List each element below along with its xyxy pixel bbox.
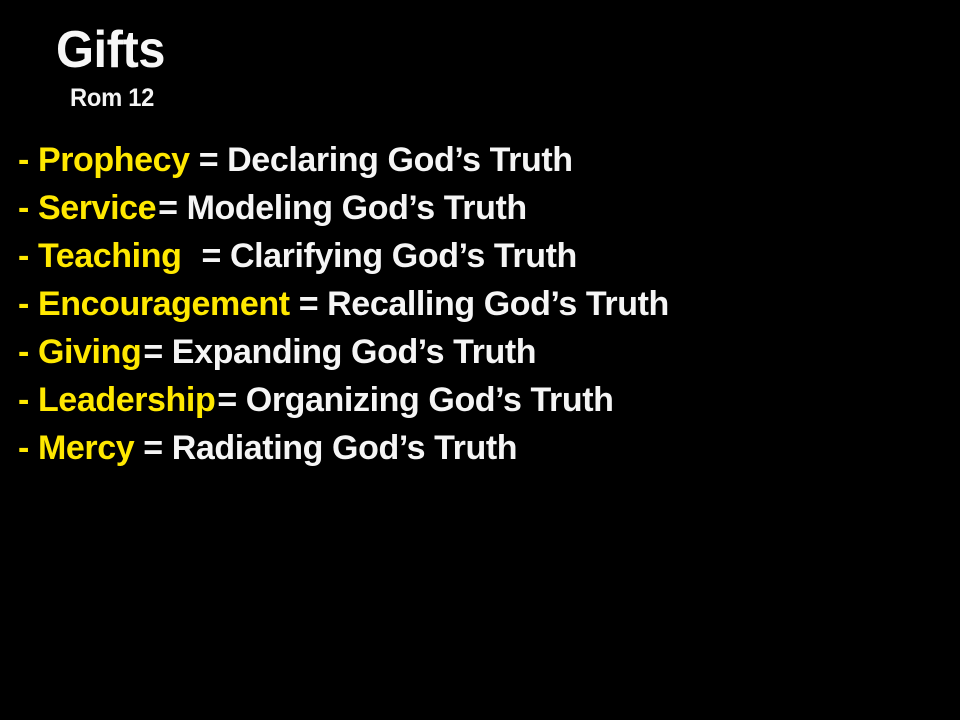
gift-description: Radiating God’s Truth bbox=[172, 429, 517, 467]
gift-list: -Prophecy=Declaring God’s Truth-Service=… bbox=[0, 136, 960, 472]
equals-sign: = bbox=[217, 381, 236, 419]
gift-name: Prophecy bbox=[38, 141, 190, 179]
gift-description: Declaring God’s Truth bbox=[227, 141, 573, 179]
gift-name: Mercy bbox=[38, 429, 134, 467]
gift-name: Teaching bbox=[38, 237, 182, 275]
gift-name: Service bbox=[38, 189, 156, 227]
bullet-dash: - bbox=[18, 333, 29, 371]
bullet-dash: - bbox=[18, 429, 29, 467]
gift-name: Leadership bbox=[38, 381, 215, 419]
equals-sign: = bbox=[143, 333, 162, 371]
list-item: -Encouragement=Recalling God’s Truth bbox=[0, 280, 960, 328]
bullet-dash: - bbox=[18, 381, 29, 419]
presentation-slide: Gifts Rom 12 -Prophecy=Declaring God’s T… bbox=[0, 0, 960, 720]
bullet-dash: - bbox=[18, 285, 29, 323]
list-item: -Leadership=Organizing God’s Truth bbox=[0, 376, 960, 424]
equals-sign: = bbox=[158, 189, 177, 227]
list-item: -Prophecy=Declaring God’s Truth bbox=[0, 136, 960, 184]
gift-description: Organizing God’s Truth bbox=[246, 381, 614, 419]
scripture-reference: Rom 12 bbox=[70, 84, 154, 112]
bullet-dash: - bbox=[18, 237, 29, 275]
bullet-dash: - bbox=[18, 189, 29, 227]
equals-sign: = bbox=[199, 141, 218, 179]
equals-sign: = bbox=[299, 285, 318, 323]
page-title: Gifts bbox=[56, 22, 165, 78]
gift-description: Clarifying God’s Truth bbox=[230, 237, 577, 275]
gift-name: Encouragement bbox=[38, 285, 290, 323]
equals-sign: = bbox=[201, 237, 220, 275]
list-item: -Teaching=Clarifying God’s Truth bbox=[0, 232, 960, 280]
list-item: -Giving=Expanding God’s Truth bbox=[0, 328, 960, 376]
list-item: -Service=Modeling God’s Truth bbox=[0, 184, 960, 232]
equals-sign: = bbox=[143, 429, 162, 467]
gift-description: Expanding God’s Truth bbox=[172, 333, 536, 371]
bullet-dash: - bbox=[18, 141, 29, 179]
list-item: -Mercy=Radiating God’s Truth bbox=[0, 424, 960, 472]
gift-name: Giving bbox=[38, 333, 141, 371]
gift-description: Modeling God’s Truth bbox=[187, 189, 527, 227]
gift-description: Recalling God’s Truth bbox=[327, 285, 669, 323]
